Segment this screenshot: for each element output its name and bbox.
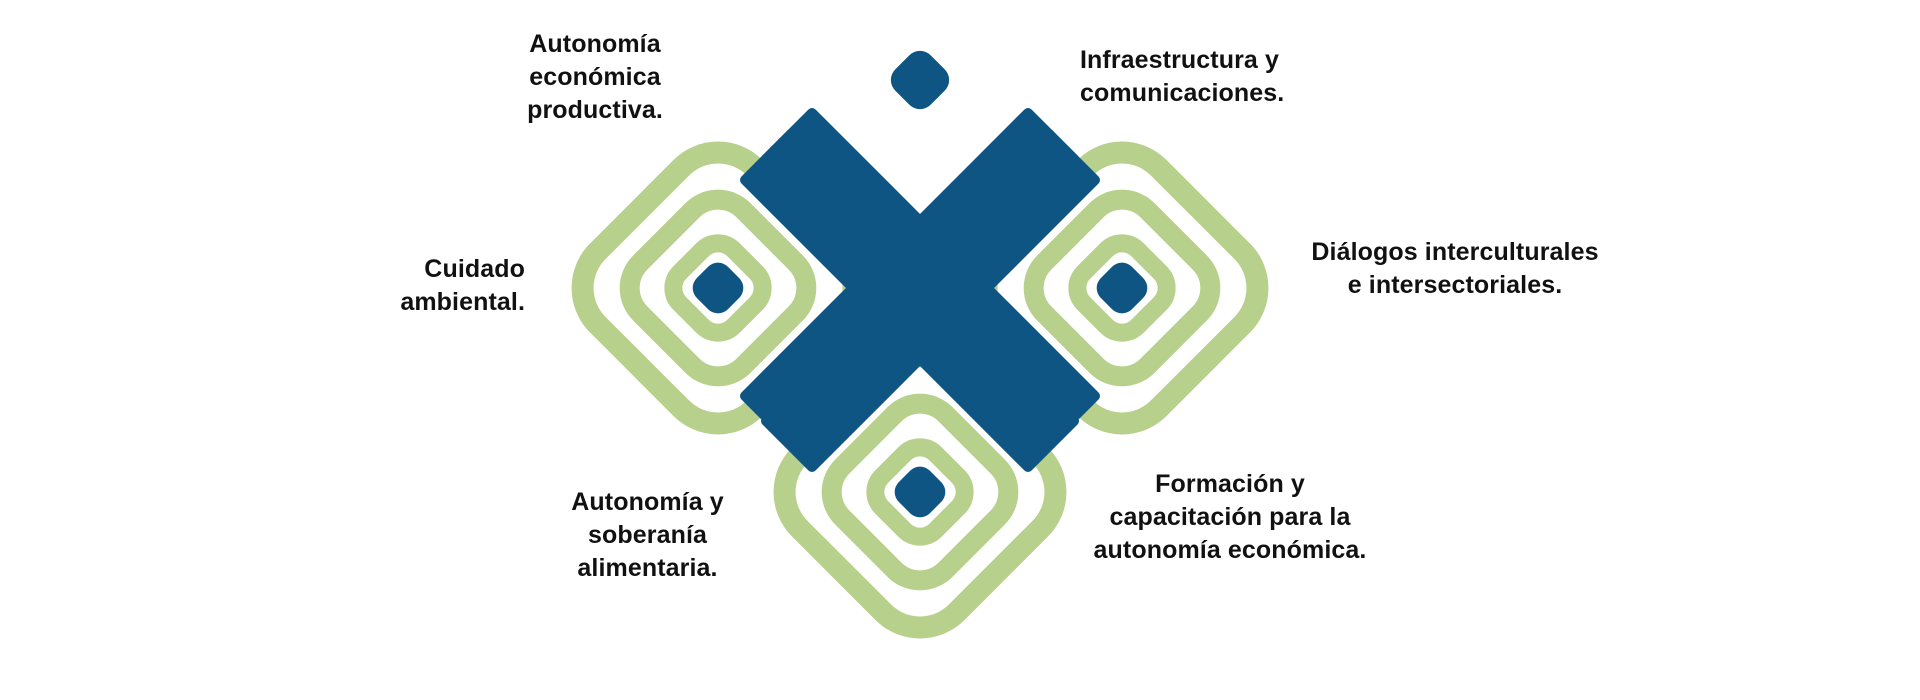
label-infraestructura-comunicaciones: Infraestructura y comunicaciones. (1080, 44, 1360, 110)
label-autonomia-soberania-alimentaria: Autonomía y soberanía alimentaria. (520, 486, 775, 585)
label-formacion-capacitacion-autonomia-economica: Formación y capacitación para la autonom… (1080, 468, 1380, 567)
petal-top-center-dot (885, 45, 956, 116)
label-dialogos-interculturales-intersectoriales: Diálogos interculturales e intersectoria… (1310, 236, 1600, 302)
label-autonomia-economica-productiva: Autonomía económica productiva. (470, 28, 720, 127)
petal-top (885, 45, 956, 116)
radial-emblem-graphic (0, 0, 1920, 700)
diagram-canvas: Autonomía económica productiva. Infraest… (0, 0, 1920, 700)
label-cuidado-ambiental: Cuidado ambiental. (300, 253, 525, 319)
